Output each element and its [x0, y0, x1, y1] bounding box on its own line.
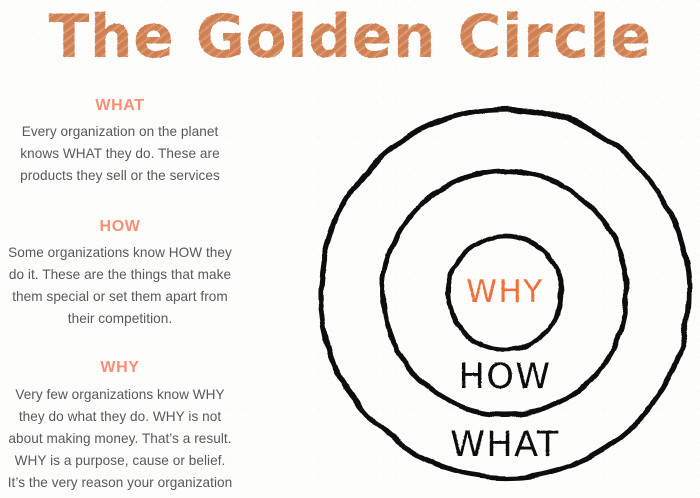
golden-circle-infographic: The Golden Circle WHAT Every organizatio…	[0, 0, 700, 498]
section-how: HOW Some organizations know HOW they do …	[6, 217, 234, 330]
diagram-artwork: WHY HOW WHAT	[300, 88, 700, 498]
section-why-heading: WHY	[6, 358, 234, 377]
diagram-label-why: WHY	[466, 274, 543, 310]
section-how-heading: HOW	[6, 217, 234, 236]
golden-circle-diagram: WHY HOW WHAT	[300, 88, 700, 498]
diagram-label-what: WHAT	[450, 425, 560, 465]
section-how-body: Some organizations know HOW they do it. …	[6, 242, 234, 330]
title-artwork: The Golden Circle	[0, 2, 700, 72]
explanation-column: WHAT Every organization on the planet kn…	[6, 96, 234, 498]
section-why: WHY Very few organizations know WHY they…	[6, 358, 234, 498]
diagram-label-how: HOW	[459, 357, 552, 397]
page-title: The Golden Circle	[0, 2, 700, 72]
section-what-body: Every organization on the planet knows W…	[6, 121, 234, 187]
section-what-heading: WHAT	[6, 96, 234, 115]
section-why-body: Very few organizations know WHY they do …	[6, 384, 234, 498]
section-what: WHAT Every organization on the planet kn…	[6, 96, 234, 187]
title-text: The Golden Circle	[48, 2, 651, 72]
